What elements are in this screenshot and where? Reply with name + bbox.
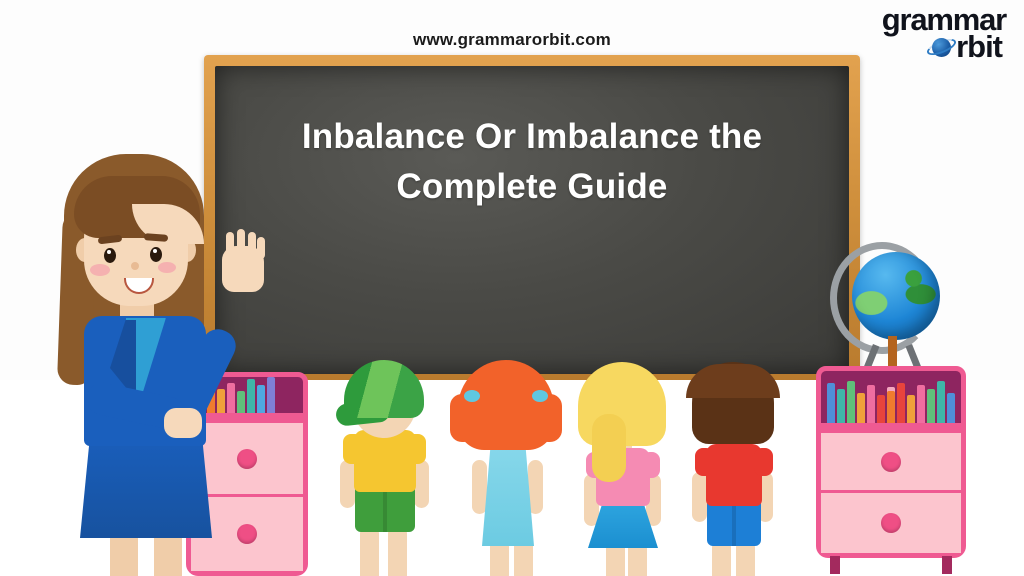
child-hair: [692, 362, 774, 444]
child-sleeve-right: [754, 448, 773, 476]
child-blonde-hair: [564, 356, 680, 576]
planet-orbit-icon: [928, 35, 955, 59]
child-arm-left: [472, 460, 487, 514]
child-leg-left: [712, 542, 731, 576]
cabinet-right-drawer-1[interactable]: [821, 433, 961, 493]
banner-canvas: www.grammarorbit.com grammar rbit Inbala…: [0, 0, 1024, 576]
child-sleeve-left: [343, 434, 363, 464]
teacher-leg-right: [154, 532, 182, 576]
teacher-hand-lower: [164, 408, 202, 438]
child-baseball-cap: [344, 360, 424, 418]
child-arm-right: [414, 460, 429, 508]
cabinet-right-books-left: [827, 381, 895, 423]
blackboard-frame: Inbalance Or Imbalance the Complete Guid…: [204, 55, 860, 385]
teacher-leg-left: [110, 532, 138, 576]
child-dress: [482, 448, 534, 546]
teacher-eye-right: [150, 247, 162, 262]
teacher-skirt: [80, 430, 212, 538]
teacher-nose: [131, 262, 139, 270]
cabinet-right-books-right: [887, 381, 955, 423]
logo-orbit-text: rbit: [956, 31, 1002, 62]
drawer-knob-icon[interactable]: [881, 513, 901, 533]
cabinet-right-drawer-2[interactable]: [821, 493, 961, 553]
cabinet-right-drawers: [816, 428, 966, 558]
child-hair: [458, 360, 554, 450]
child-hair-tie-right: [532, 390, 548, 402]
child-leg-left: [360, 528, 379, 576]
child-hair-tie-left: [464, 390, 480, 402]
blackboard-surface: Inbalance Or Imbalance the Complete Guid…: [215, 66, 849, 374]
brand-logo[interactable]: grammar rbit: [818, 4, 1008, 56]
child-arm-left: [340, 460, 355, 508]
child-sleeve-right: [642, 452, 660, 478]
globe-axis: [888, 336, 897, 370]
teacher-hair-fringe: [74, 176, 200, 238]
child-leg-right: [388, 528, 407, 576]
drawer-knob-icon[interactable]: [881, 452, 901, 472]
cabinet-leg-right: [942, 556, 952, 574]
child-brown-hair: [678, 356, 788, 576]
child-sleeve-right: [406, 434, 426, 464]
child-leg-right: [736, 542, 755, 576]
teacher-waving-hand: [222, 246, 264, 292]
child-ponytail: [592, 414, 626, 482]
globe-sphere: [852, 252, 940, 340]
cabinet-leg-left: [830, 556, 840, 574]
teacher-cheek-right: [158, 262, 176, 273]
cabinet-right: [816, 366, 966, 558]
cabinet-right-shelf: [816, 366, 966, 428]
child-arm-left: [692, 472, 707, 522]
child-orange-hair: [446, 354, 566, 576]
child-shorts: [355, 486, 415, 532]
globe-icon: [828, 240, 954, 382]
teacher-cheek-left: [90, 264, 110, 276]
child-sleeve-left: [695, 448, 714, 476]
teacher-eye-left: [104, 248, 116, 263]
child-shorts: [707, 500, 761, 546]
teacher-character: [36, 150, 266, 576]
child-green-cap: [330, 358, 438, 576]
page-title: Inbalance Or Imbalance the Complete Guid…: [259, 112, 804, 211]
